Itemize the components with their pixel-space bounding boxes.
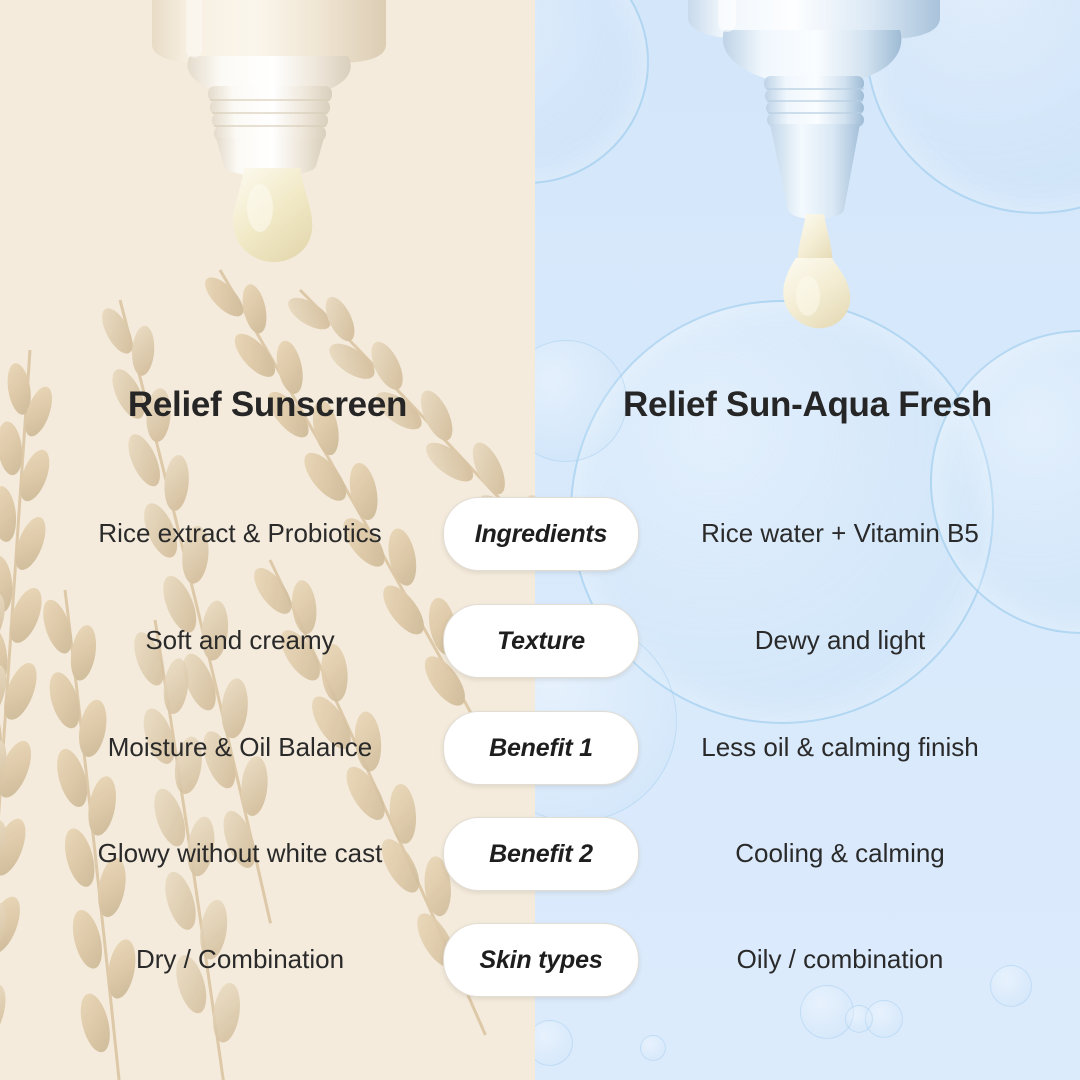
row-label-text: Skin types	[479, 946, 602, 975]
row-label-pill-skin-types[interactable]: Skin types	[443, 923, 639, 997]
row-left-value: Dry / Combination	[40, 923, 440, 995]
row-right-value: Less oil & calming finish	[640, 711, 1040, 783]
comparison-row: Moisture & Oil Balance Benefit 1 Less oi…	[0, 711, 1080, 783]
row-label-text: Ingredients	[475, 520, 608, 549]
row-label-pill-ingredients[interactable]: Ingredients	[443, 497, 639, 571]
row-right-value: Cooling & calming	[640, 817, 1040, 889]
row-left-value: Moisture & Oil Balance	[40, 711, 440, 783]
bubble-small-5	[535, 1020, 573, 1066]
comparison-row: Rice extract & Probiotics Ingredients Ri…	[0, 497, 1080, 569]
row-right-value: Rice water + Vitamin B5	[640, 497, 1040, 569]
blue-bottle-product-image	[672, 0, 992, 335]
row-label-text: Benefit 2	[489, 840, 593, 869]
row-label-pill-benefit-2[interactable]: Benefit 2	[443, 817, 639, 891]
row-label-text: Texture	[497, 627, 585, 656]
row-right-value: Oily / combination	[640, 923, 1040, 995]
right-product-title: Relief Sun-Aqua Fresh	[535, 382, 1080, 428]
row-left-value: Rice extract & Probiotics	[40, 497, 440, 569]
bubble-small-6	[640, 1035, 666, 1061]
row-left-value: Soft and creamy	[40, 604, 440, 676]
comparison-row: Dry / Combination Skin types Oily / comb…	[0, 923, 1080, 995]
row-label-text: Benefit 1	[489, 734, 593, 763]
cream-tube-product-image	[130, 0, 420, 275]
comparison-row: Glowy without white cast Benefit 2 Cooli…	[0, 817, 1080, 889]
row-label-pill-texture[interactable]: Texture	[443, 604, 639, 678]
row-left-value: Glowy without white cast	[40, 817, 440, 889]
row-label-pill-benefit-1[interactable]: Benefit 1	[443, 711, 639, 785]
comparison-row: Soft and creamy Texture Dewy and light	[0, 604, 1080, 676]
bubble-small-3	[845, 1005, 873, 1033]
bubble-top-left	[535, 0, 649, 184]
left-product-title: Relief Sunscreen	[0, 382, 535, 428]
row-right-value: Dewy and light	[640, 604, 1040, 676]
comparison-infographic: Relief Sunscreen Relief Sun-Aqua Fresh R…	[0, 0, 1080, 1080]
